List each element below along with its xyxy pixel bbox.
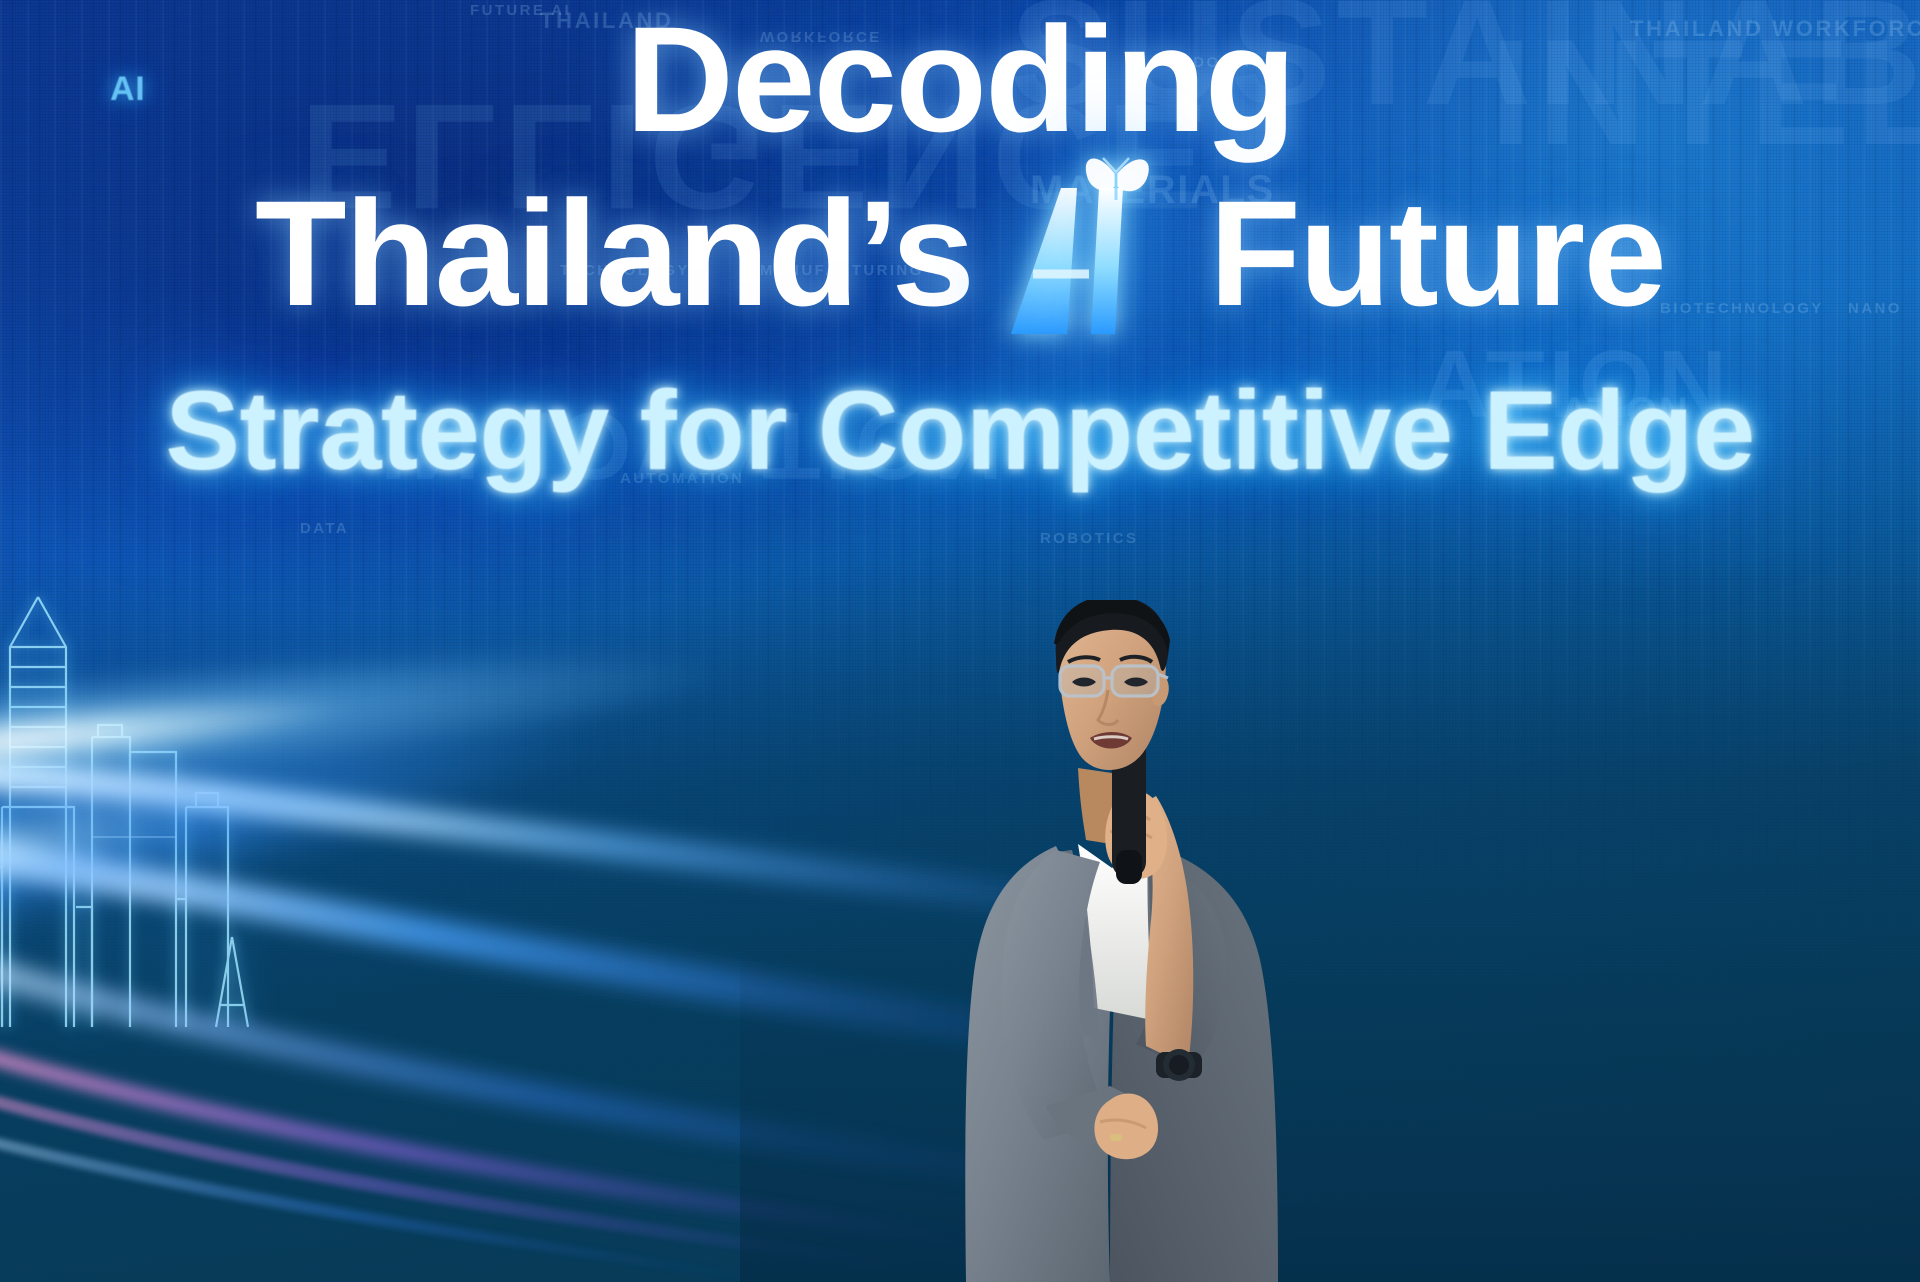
title-line-2-after: Future — [1209, 178, 1665, 328]
screen-subtitle: Strategy for Competitive Edge — [0, 366, 1920, 495]
title-line-1: Decoding — [0, 4, 1920, 154]
title-line-2-before: Thailand’s — [255, 178, 973, 328]
ai-logo-icon — [1003, 178, 1179, 328]
screen-title-block: Decoding Thailand’s — [0, 0, 1920, 495]
conference-stage-photo: SUSTAINABILITYTHAILAND WORKFORCEINTELLIG… — [0, 0, 1920, 1282]
speaker-figure — [960, 600, 1420, 1282]
title-line-2: Thailand’s — [0, 178, 1920, 328]
